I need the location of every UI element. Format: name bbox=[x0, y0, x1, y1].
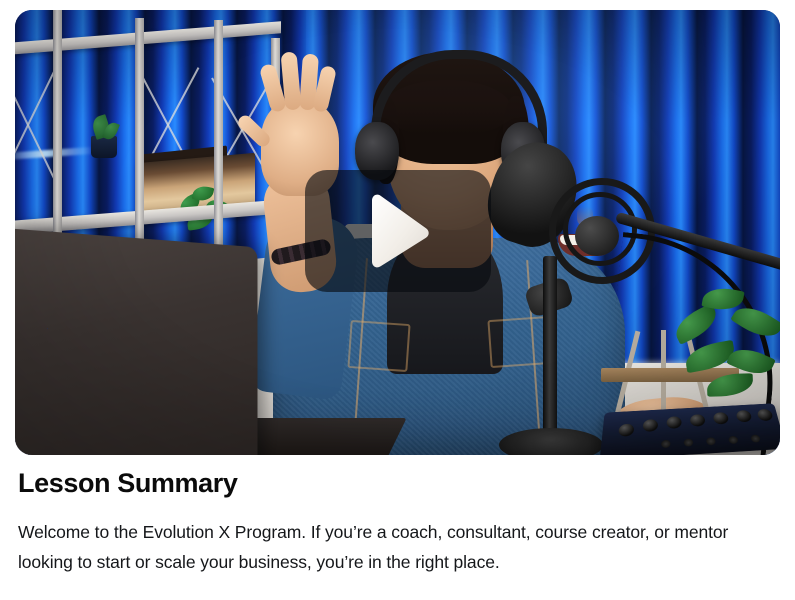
lesson-summary-title: Lesson Summary bbox=[18, 468, 780, 499]
play-button[interactable] bbox=[305, 170, 491, 292]
lesson-summary-paragraph: Welcome to the Evolution X Program. If y… bbox=[18, 517, 780, 577]
play-icon bbox=[365, 194, 431, 268]
lesson-page: Lesson Summary Welcome to the Evolution … bbox=[0, 0, 795, 600]
lesson-summary-section: Lesson Summary Welcome to the Evolution … bbox=[18, 468, 780, 577]
laptop bbox=[15, 228, 257, 455]
microphone-stand bbox=[543, 256, 557, 446]
lesson-video-player[interactable] bbox=[15, 10, 780, 455]
microphone-base bbox=[499, 428, 603, 455]
audio-mixer bbox=[600, 403, 780, 455]
right-plant bbox=[667, 282, 780, 410]
